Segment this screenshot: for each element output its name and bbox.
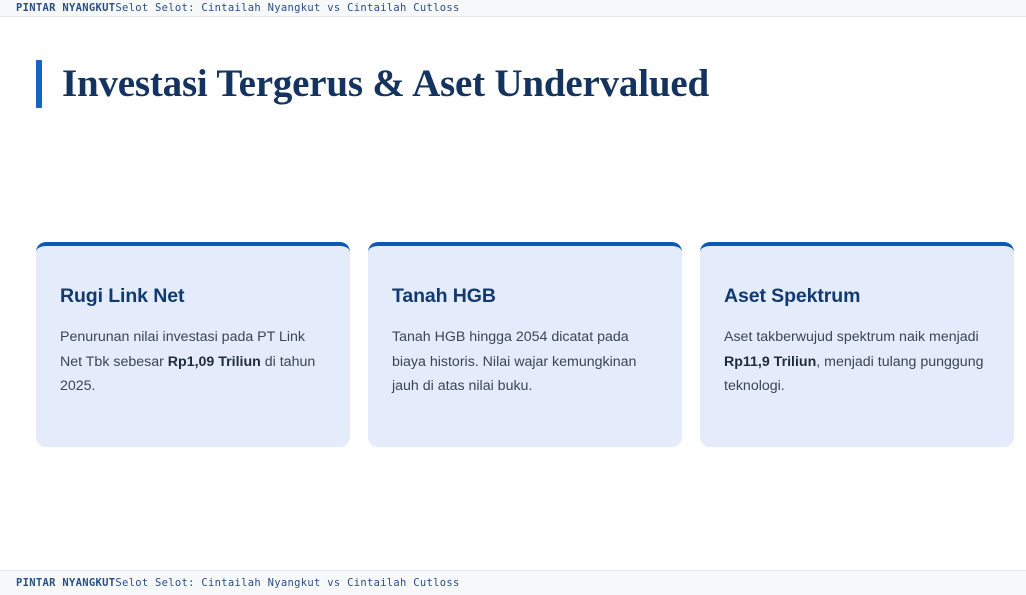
card-body: Tanah HGB hingga 2054 dicatat pada biaya… (392, 325, 658, 399)
bottom-bar-brand: PINTAR NYANGKUT (16, 577, 115, 589)
card-title: Aset Spektrum (724, 284, 990, 308)
card-aset-spektrum[interactable]: Aset Spektrum Aset takberwujud spektrum … (700, 242, 1014, 447)
top-bar-subtitle: Selot Selot: Cintailah Nyangkut vs Cinta… (115, 2, 459, 14)
page-title-row: Investasi Tergerus & Aset Undervalued (36, 60, 709, 108)
top-status-bar: PINTAR NYANGKUT Selot Selot: Cintailah N… (0, 0, 1026, 17)
title-accent-bar (36, 60, 42, 108)
card-body: Penurunan nilai investasi pada PT Link N… (60, 325, 326, 399)
bottom-bar-subtitle: Selot Selot: Cintailah Nyangkut vs Cinta… (115, 577, 459, 589)
card-body-pre: Tanah HGB hingga 2054 dicatat pada biaya… (392, 329, 636, 394)
card-body: Aset takberwujud spektrum naik menjadi R… (724, 325, 990, 399)
page-title: Investasi Tergerus & Aset Undervalued (62, 60, 709, 108)
card-title: Rugi Link Net (60, 284, 326, 308)
card-body-highlight: Rp1,09 Triliun (168, 354, 261, 370)
slide-canvas: Investasi Tergerus & Aset Undervalued Ru… (0, 17, 1026, 562)
top-bar-brand: PINTAR NYANGKUT (16, 2, 115, 14)
card-tanah-hgb[interactable]: Tanah HGB Tanah HGB hingga 2054 dicatat … (368, 242, 682, 447)
bottom-status-bar: PINTAR NYANGKUT Selot Selot: Cintailah N… (0, 570, 1026, 595)
card-body-highlight: Rp11,9 Triliun (724, 354, 816, 370)
card-grid: Rugi Link Net Penurunan nilai investasi … (36, 242, 1014, 447)
card-body-pre: Aset takberwujud spektrum naik menjadi (724, 329, 979, 345)
card-title: Tanah HGB (392, 284, 658, 308)
card-rugi-link-net[interactable]: Rugi Link Net Penurunan nilai investasi … (36, 242, 350, 447)
